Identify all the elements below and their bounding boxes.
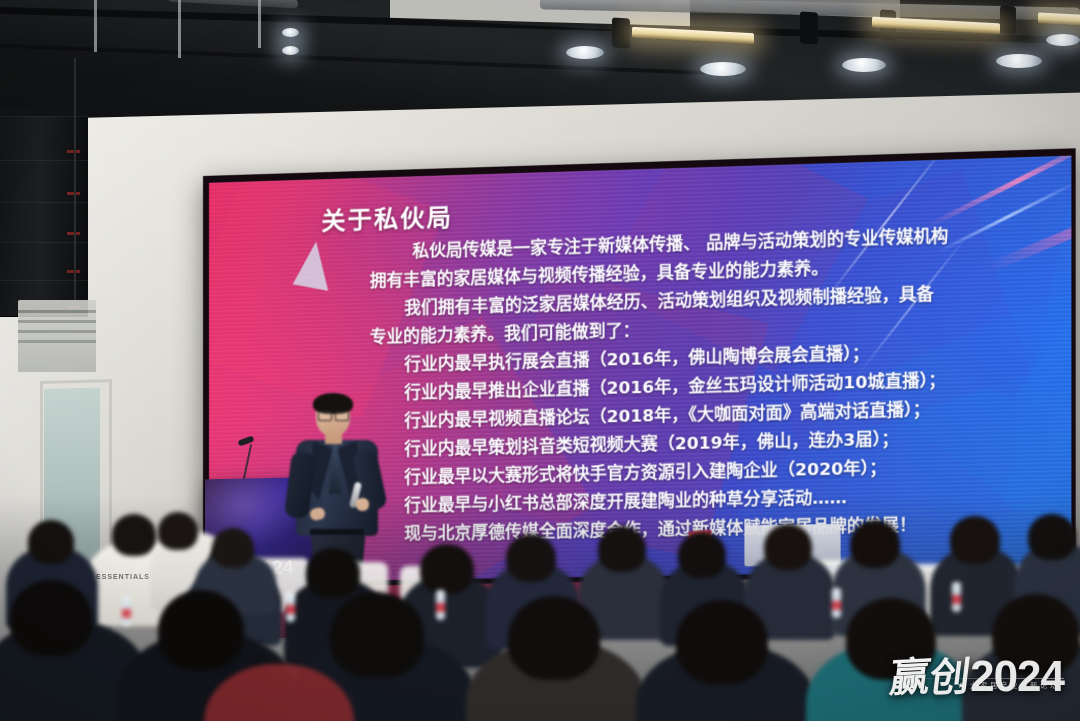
water-bottle: [436, 590, 445, 620]
truss-rod: [258, 0, 261, 48]
watermark-subtitle-row: ★ 大家居产业创新论坛: [957, 680, 1060, 691]
water-bottle: [952, 582, 961, 612]
water-bottle: [832, 588, 841, 618]
audience-head: [950, 516, 1000, 564]
speaker-rigging-rod: [74, 58, 76, 310]
audience-head: [212, 528, 254, 568]
truss-rod: [178, 0, 181, 58]
spotlight: [1046, 34, 1080, 46]
audience-head: [28, 520, 74, 564]
spotlight: [282, 46, 299, 55]
audience-head: [506, 534, 556, 582]
audience-head-foreground: [508, 596, 600, 680]
audience-head: [850, 520, 900, 568]
water-bottle: [122, 596, 131, 626]
spotlight: [842, 58, 886, 72]
air-conditioner-unit: [18, 300, 96, 372]
audience-head: [1028, 514, 1076, 560]
watermark-subtitle: 大家居产业创新论坛: [970, 680, 1060, 691]
audience-head-foreground: [10, 580, 92, 656]
audience-head: [420, 544, 474, 594]
conference-photo: 关于私伙局 私伙局传媒是一家专注于新媒体传播、 品牌与活动策划的专业传媒机构 拥…: [0, 0, 1080, 721]
speaker-rigging-bar: [0, 106, 92, 116]
star-icon: ★: [957, 681, 967, 690]
audience-head-foreground: [676, 600, 768, 684]
line-array-speaker: [0, 58, 92, 302]
audience-head: [678, 532, 726, 578]
ceiling-duct: [168, 0, 298, 8]
audience-head-foreground: [330, 592, 424, 678]
light-housing: [1000, 5, 1016, 34]
audience-head: [764, 524, 812, 570]
watermark-rule: [894, 678, 1064, 679]
event-watermark: 赢 创 2024 ★ 大家居产业创新论坛: [846, 621, 1064, 697]
audience-head-foreground: [158, 590, 244, 670]
spotlight: [996, 54, 1042, 68]
audience-head: [306, 548, 360, 598]
spotlight: [566, 46, 604, 59]
hoodie-logo-text: ESSENTIALS: [96, 574, 150, 581]
audience-head: [112, 514, 156, 556]
presenter-glasses-icon: [318, 411, 349, 419]
light-housing: [800, 11, 818, 44]
ceiling-lamp: [1038, 12, 1080, 26]
truss-rod: [94, 0, 97, 52]
audience-head: [158, 512, 198, 550]
spotlight: [700, 62, 746, 76]
ceiling-beam: [0, 44, 740, 76]
watermark-year: 2024: [970, 657, 1064, 697]
light-housing: [612, 17, 630, 48]
slide-heading: 关于私伙局: [321, 197, 453, 236]
water-bottle: [286, 592, 295, 622]
audience-head: [598, 526, 646, 572]
spotlight: [282, 28, 299, 37]
